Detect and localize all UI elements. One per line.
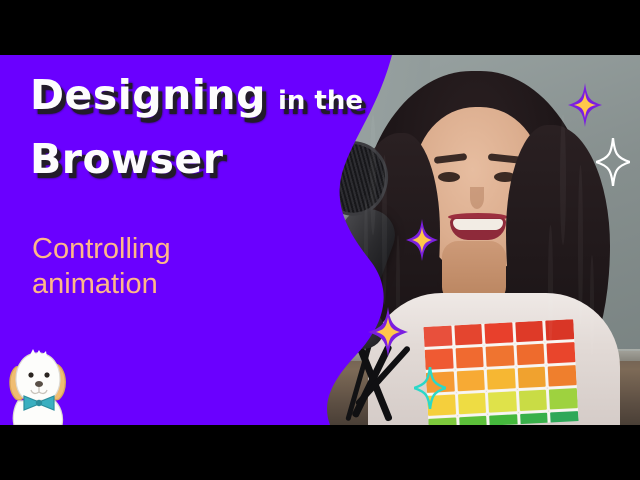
shirt-color-swatch [428,417,457,425]
shirt-color-swatch [486,345,515,366]
letterbox-bottom [0,425,640,480]
shirt-color-swatch [547,342,576,363]
hair-strand [578,165,583,325]
title-group: Designingin the Browser [30,75,380,181]
hair-strand [548,225,553,345]
video-frame: Designingin the Browser Controlling anim… [0,55,640,425]
title-line-2: Browser [30,139,380,181]
sparkle-white-outline-icon [596,138,630,190]
smiling-mouth [450,218,506,240]
shirt-color-swatch [455,347,484,368]
shirt-color-swatch [485,322,514,343]
pantone-swatch-grid [423,319,578,425]
title-card-canvas: Designingin the Browser Controlling anim… [0,0,640,480]
sparkle-gold-top-right-icon [568,83,602,131]
shirt-color-swatch [456,370,485,391]
shirt-color-swatch [548,365,577,386]
shirt-color-swatch [549,388,578,409]
eye-left [438,172,460,182]
subtitle-line-2: animation [32,267,362,302]
shirt-color-swatch [459,416,488,425]
hair-strand [560,115,566,245]
shirt-color-swatch [489,414,518,425]
sparkle-gold-mid-icon [406,219,438,265]
subtitle-group: Controlling animation [32,232,362,303]
title-line-1: Designingin the [30,75,380,117]
hair-strand [590,255,594,355]
shirt-color-swatch [519,390,548,411]
sparkle-teal-bottom-icon [414,367,446,413]
shirt-color-swatch [515,321,544,342]
shirt-color-swatch [487,368,516,389]
sparkle-gold-lower-icon [368,307,408,361]
title-small-words: in the [278,86,363,116]
shirt-color-swatch [423,326,452,347]
shirt-color-swatch [488,391,517,412]
nose [470,187,484,209]
teeth [453,219,503,230]
subtitle-line-1: Controlling [32,232,362,267]
shirt-color-swatch [458,393,487,414]
shirt-color-swatch [454,324,483,345]
letterbox-top [0,0,640,55]
shirt-color-swatch [518,367,547,388]
title-main-word: Designing [30,71,266,119]
dog-mascot-logo-icon [4,347,76,425]
shirt-color-swatch [516,344,545,365]
